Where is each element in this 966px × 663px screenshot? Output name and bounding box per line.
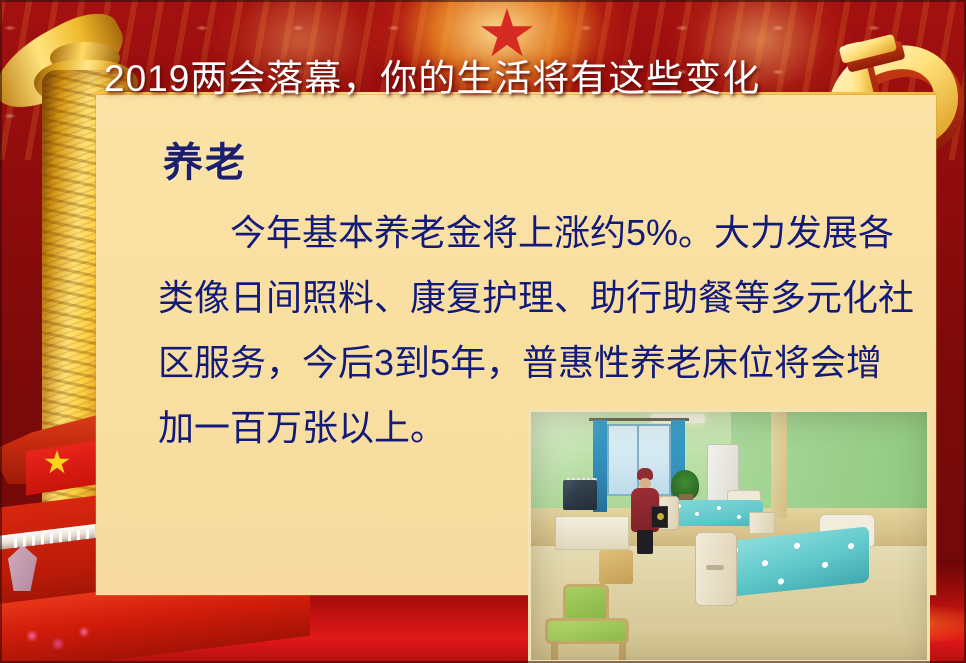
photo-bed-front: [701, 530, 881, 622]
photo-armchair-seat: [545, 618, 629, 644]
photo-elderly-person: [627, 468, 663, 556]
pink-flowers-decor: [14, 618, 134, 663]
photo-bed-front-footboard: [695, 532, 737, 606]
photo-bed-front-quilt: [721, 526, 869, 598]
slide-canvas: 中华人民共和国万岁 世界人民大团结万岁 2019两会落幕，你的生活将有这些变化 …: [0, 0, 966, 663]
photo-armchair-leg-left: [551, 642, 558, 663]
photo-person-legs: [637, 530, 653, 554]
photo-green-armchair: [539, 584, 649, 660]
photo-desk: [555, 516, 629, 550]
photo-armchair-leg-right: [619, 642, 626, 663]
section-heading: 养老: [163, 130, 247, 188]
photo-person-bag: [651, 506, 668, 528]
photo-monitor: [563, 480, 597, 510]
slide-title: 2019两会落幕，你的生活将有这些变化: [104, 48, 760, 102]
nursing-home-photo: [528, 409, 930, 663]
